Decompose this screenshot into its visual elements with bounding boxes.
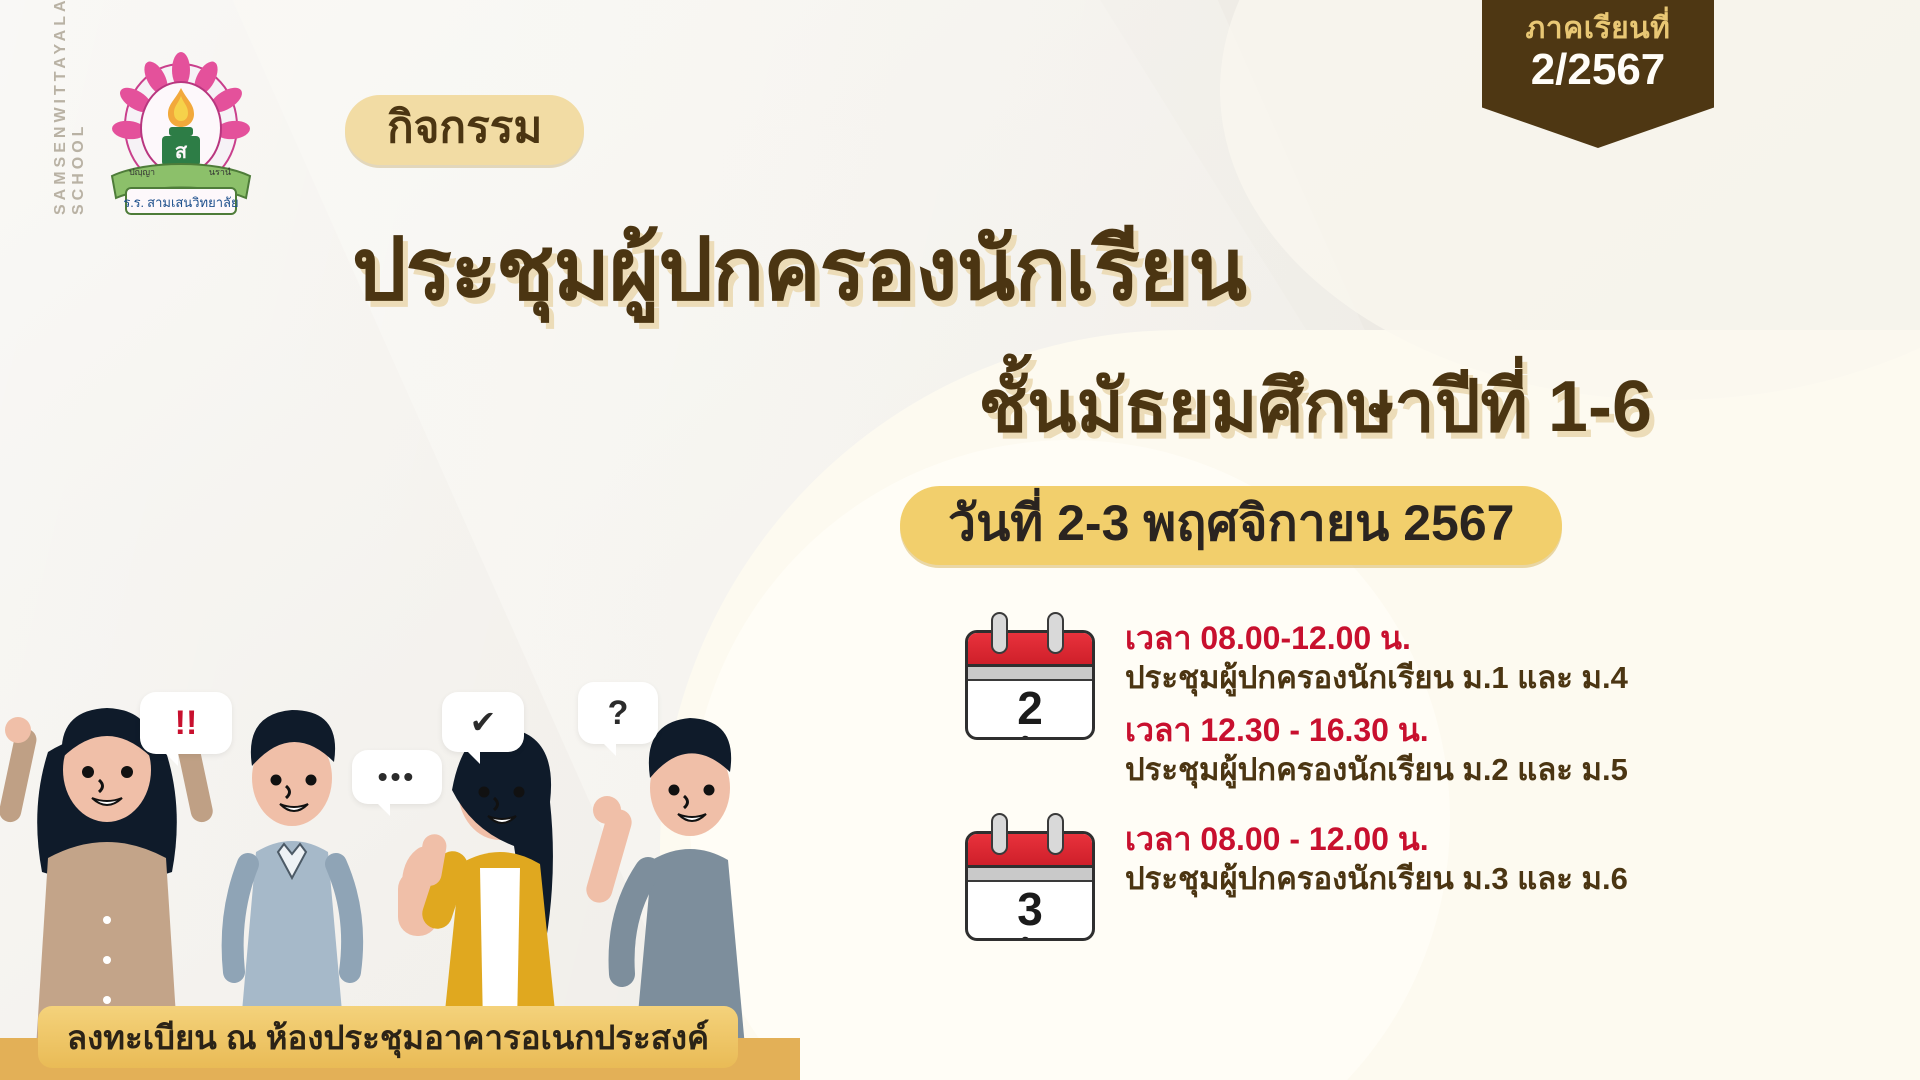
calendar-month: พฤศจิกายน: [968, 933, 1092, 941]
calendar-body: 2 พฤศจิกายน: [965, 630, 1095, 740]
svg-text:ส: ส: [175, 141, 188, 163]
schedule-desc: ประชุมผู้ปกครองนักเรียน ม.1 และ ม.4: [1125, 658, 1795, 698]
bubble-text: !!: [175, 704, 198, 743]
speech-bubble-question: ?: [578, 682, 658, 744]
school-crest-icon: ส ร.ร. สามเสนวิทยาลัย ปญฺญา นรานํ: [96, 48, 266, 233]
schedule-entries: เวลา 08.00 - 12.00 น. ประชุมผู้ปกครองนัก…: [1125, 813, 1795, 899]
register-banner: ลงทะเบียน ณ ห้องประชุมอาคารอเนกประสงค์: [38, 1006, 738, 1068]
page-title-line2: ชั้นมัธยมศึกษาปีที่ 1-6: [0, 370, 1700, 446]
speech-bubble-dots: •••: [352, 750, 442, 804]
calendar-subheader: [968, 868, 1092, 882]
svg-text:ปญฺญา: ปญฺญา: [129, 167, 155, 177]
calendar-ring-right: [1047, 813, 1064, 855]
school-logo: ส ร.ร. สามเสนวิทยาลัย ปญฺญา นรานํ: [96, 48, 266, 233]
calendar-header: [968, 633, 1092, 667]
semester-label: ภาคเรียนที่: [1526, 12, 1671, 45]
calendar-header: [968, 834, 1092, 868]
calendar-day: 3: [968, 886, 1092, 932]
schedule-time: เวลา 12.30 - 16.30 น.: [1125, 710, 1795, 750]
schedule-group: 3 พฤศจิกายน เวลา 08.00 - 12.00 น. ประชุม…: [965, 813, 1795, 941]
schedule-desc: ประชุมผู้ปกครองนักเรียน ม.2 และ ม.5: [1125, 750, 1795, 790]
schedule-desc: ประชุมผู้ปกครองนักเรียน ม.3 และ ม.6: [1125, 859, 1795, 899]
date-pill: วันที่ 2-3 พฤศจิกายน 2567: [900, 486, 1562, 565]
svg-text:นรานํ: นรานํ: [209, 167, 231, 177]
schedule-time: เวลา 08.00 - 12.00 น.: [1125, 819, 1795, 859]
calendar-icon: 3 พฤศจิกายน: [965, 813, 1095, 941]
page-title-line1: ประชุมผู้ปกครองนักเรียน: [352, 225, 1532, 315]
bubble-text: ?: [608, 694, 629, 733]
calendar-ring-left: [991, 813, 1008, 855]
calendar-icon: 2 พฤศจิกายน: [965, 612, 1095, 740]
schedule-time: เวลา 08.00-12.00 น.: [1125, 618, 1795, 658]
activity-pill: กิจกรรม: [345, 95, 584, 165]
poster-root: ภาคเรียนที่ 2/2567: [0, 0, 1920, 1080]
bubble-text: ✔: [470, 703, 497, 741]
calendar-month: พฤศจิกายน: [968, 732, 1092, 740]
bubble-text: •••: [378, 761, 416, 793]
schedule-entries: เวลา 08.00-12.00 น. ประชุมผู้ปกครองนักเร…: [1125, 612, 1795, 791]
calendar-ring-left: [991, 612, 1008, 654]
schedule-group: 2 พฤศจิกายน เวลา 08.00-12.00 น. ประชุมผู…: [965, 612, 1795, 791]
speech-bubble-exclaim: !!: [140, 692, 232, 754]
schedule-list: 2 พฤศจิกายน เวลา 08.00-12.00 น. ประชุมผู…: [965, 612, 1795, 963]
calendar-body: 3 พฤศจิกายน: [965, 831, 1095, 941]
calendar-subheader: [968, 667, 1092, 681]
school-vertical-name: SAMSENWITTAYALAI SCHOOL: [52, 0, 88, 215]
semester-value: 2/2567: [1531, 47, 1666, 93]
svg-text:ร.ร. สามเสนวิทยาลัย: ร.ร. สามเสนวิทยาลัย: [123, 195, 238, 210]
speech-bubble-check: ✔: [442, 692, 524, 752]
calendar-ring-right: [1047, 612, 1064, 654]
calendar-day: 2: [968, 685, 1092, 731]
